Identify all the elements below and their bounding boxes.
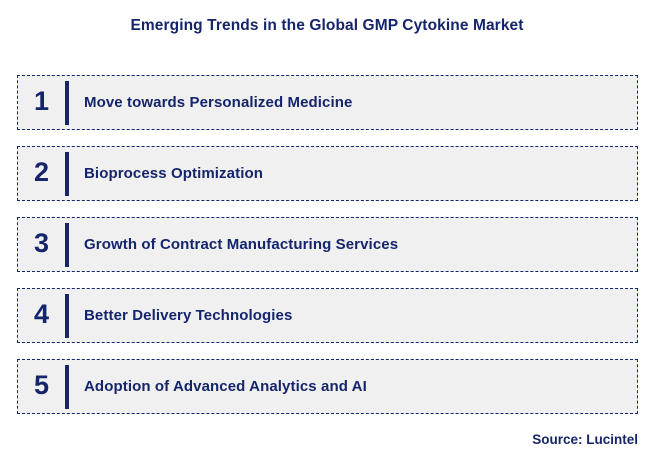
trend-number: 1 <box>18 88 65 117</box>
trend-label: Growth of Contract Manufacturing Service… <box>69 236 637 253</box>
trend-label: Move towards Personalized Medicine <box>69 94 637 111</box>
trend-number: 2 <box>18 159 65 188</box>
trend-row-2[interactable]: 2 Bioprocess Optimization <box>17 146 638 201</box>
trend-number: 4 <box>18 301 65 330</box>
infographic-page: Emerging Trends in the Global GMP Cytoki… <box>0 0 654 463</box>
trend-number: 3 <box>18 230 65 259</box>
trend-label: Bioprocess Optimization <box>69 165 637 182</box>
trend-row-5[interactable]: 5 Adoption of Advanced Analytics and AI <box>17 359 638 414</box>
trend-row-1[interactable]: 1 Move towards Personalized Medicine <box>17 75 638 130</box>
trend-row-4[interactable]: 4 Better Delivery Technologies <box>17 288 638 343</box>
source-attribution: Source: Lucintel <box>532 432 638 447</box>
trend-label: Better Delivery Technologies <box>69 307 637 324</box>
page-title: Emerging Trends in the Global GMP Cytoki… <box>0 17 654 35</box>
trend-label: Adoption of Advanced Analytics and AI <box>69 378 637 395</box>
trend-list: 1 Move towards Personalized Medicine 2 B… <box>17 75 638 414</box>
trend-number: 5 <box>18 372 65 401</box>
trend-row-3[interactable]: 3 Growth of Contract Manufacturing Servi… <box>17 217 638 272</box>
